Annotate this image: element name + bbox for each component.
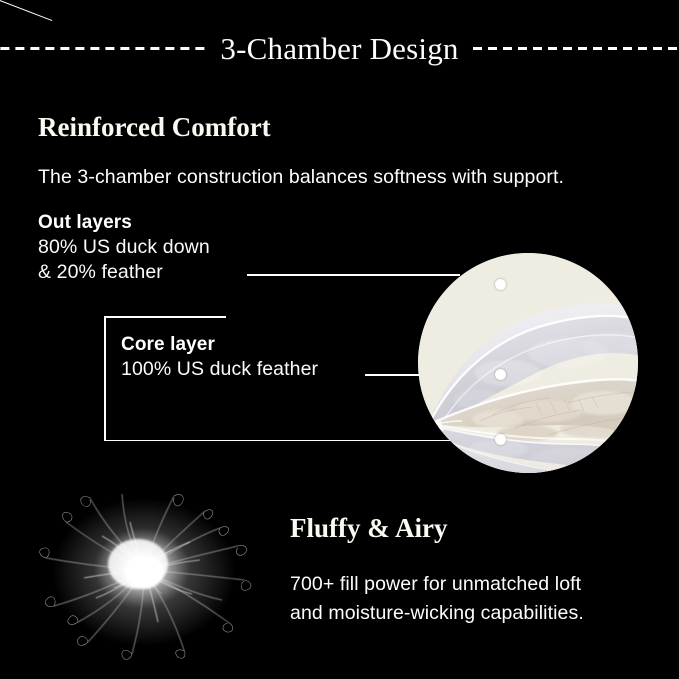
dashed-rule-right-icon xyxy=(473,47,679,50)
marker-dot-icon-core xyxy=(495,369,506,380)
section-heading-text: Reinforced Comfort xyxy=(38,112,271,142)
title-row: 3-Chamber Design xyxy=(0,28,679,68)
section-heading-reinforced-comfort: Reinforced Comfort xyxy=(38,112,271,143)
bracket-arm-top xyxy=(104,316,226,318)
section-body-text: 700+ fill power for unmatched loft and m… xyxy=(290,570,584,628)
callout-line-1: 80% US duck down xyxy=(38,236,210,259)
page-title: 3-Chamber Design xyxy=(206,33,472,64)
down-cluster-photo xyxy=(32,482,264,662)
callout-outer-layers: Out layers 80% US duck down & 20% feathe… xyxy=(38,212,210,284)
bracket-vertical xyxy=(104,316,106,441)
dashed-rule-left-icon xyxy=(0,47,206,50)
callout-line-2: & 20% feather xyxy=(38,261,210,284)
section-lede-text: The 3-chamber construction balances soft… xyxy=(38,166,564,189)
marker-dot-icon-outer-lower xyxy=(495,434,506,445)
marker-dot-icon-outer-upper xyxy=(495,279,506,290)
leader-line-outer-layers xyxy=(247,274,460,276)
section-heading-text: Fluffy & Airy xyxy=(290,513,447,543)
callout-line-1: 100% US duck feather xyxy=(121,358,318,381)
pillow-cross-section-photo xyxy=(418,253,638,473)
bracket-arm-bottom xyxy=(104,440,500,442)
callout-title: Out layers xyxy=(38,212,210,234)
leader-line-outer-diagonal xyxy=(0,0,52,21)
callout-title: Core layer xyxy=(121,334,318,356)
infographic-canvas: 3-Chamber Design Reinforced Comfort The … xyxy=(0,0,679,679)
section-heading-fluffy-airy: Fluffy & Airy xyxy=(290,513,447,544)
callout-core-layer: Core layer 100% US duck feather xyxy=(121,334,318,381)
